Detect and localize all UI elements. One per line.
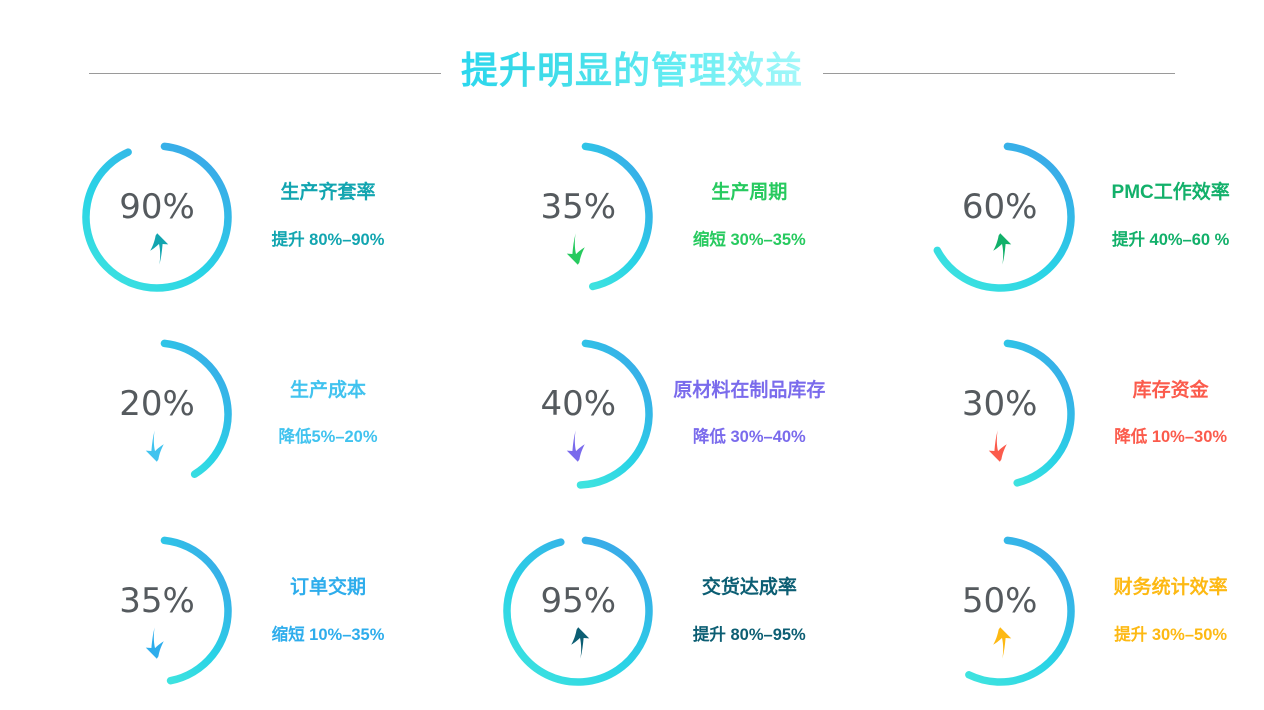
gauge-labels: PMC工作效率提升 40%–60 % [1091,182,1251,251]
arrow-down-icon [499,429,657,463]
arrow-up-icon [921,626,1079,660]
page-header: 提升明显的管理效益 [0,42,1264,104]
arrow-up-icon [921,232,1079,266]
gauge-card: 40%原材料在制品库存降低 30%–40% [421,315,842,512]
gauge-card: 35%生产周期缩短 30%–35% [421,118,842,315]
metric-title: 财务统计效率 [1114,577,1228,600]
arrow-down-icon [921,429,1079,463]
metric-change: 提升 80%–95% [693,626,806,646]
gauge-value: 90% [78,190,236,224]
metric-change: 降低 30%–40% [693,428,806,448]
gauge-ring: 90% [78,138,236,296]
gauge-value: 20% [78,387,236,421]
gauge-card: 50%财务统计效率提升 30%–50% [843,513,1264,710]
gauge-ring: 35% [499,138,657,296]
metric-title: 生产齐套率 [280,182,375,205]
gauge-value: 35% [78,584,236,618]
gauge-ring: 40% [499,335,657,493]
gauge-card: 95%交货达成率提升 80%–95% [421,513,842,710]
metric-title: 交货达成率 [702,577,797,600]
gauge-labels: 生产成本降低5%–20% [248,380,408,449]
gauge-grid: 90%生产齐套率提升 80%–90%35%生产周期缩短 30%–35%60%PM… [0,118,1264,710]
page-title: 提升明显的管理效益 [461,51,803,96]
gauge-ring: 95% [499,532,657,690]
arrow-down-icon [78,626,236,660]
gauge-value: 40% [499,387,657,421]
gauge-ring: 60% [921,138,1079,296]
metric-change: 降低 10%–30% [1114,428,1227,448]
metric-title: 订单交期 [290,577,366,600]
gauge-card: 35%订单交期缩短 10%–35% [0,513,421,710]
gauge-ring: 35% [78,532,236,690]
gauge-value: 35% [499,190,657,224]
gauge-value: 95% [499,584,657,618]
metric-title: 原材料在制品库存 [673,380,825,403]
metric-change: 提升 40%–60 % [1112,231,1229,251]
arrow-down-icon [499,232,657,266]
metric-title: PMC工作效率 [1112,182,1230,205]
gauge-ring: 50% [921,532,1079,690]
gauge-card: 60%PMC工作效率提升 40%–60 % [843,118,1264,315]
gauge-value: 50% [921,584,1079,618]
arrow-up-icon [78,232,236,266]
metric-change: 提升 30%–50% [1114,626,1227,646]
metric-change: 缩短 10%–35% [272,626,385,646]
gauge-card: 30%库存资金降低 10%–30% [843,315,1264,512]
gauge-value: 60% [921,190,1079,224]
metric-change: 降低5%–20% [278,428,377,448]
metric-title: 生产成本 [290,380,366,403]
gauge-labels: 库存资金降低 10%–30% [1091,380,1251,449]
gauge-ring: 30% [921,335,1079,493]
gauge-value: 30% [921,387,1079,421]
arrow-down-icon [78,429,236,463]
arrow-up-icon [499,626,657,660]
title-divider-right [823,73,1175,74]
metric-change: 提升 80%–90% [272,231,385,251]
metric-title: 库存资金 [1133,380,1209,403]
title-divider-left [89,73,441,74]
gauge-card: 90%生产齐套率提升 80%–90% [0,118,421,315]
gauge-labels: 财务统计效率提升 30%–50% [1091,577,1251,646]
gauge-ring: 20% [78,335,236,493]
gauge-labels: 原材料在制品库存降低 30%–40% [669,380,829,449]
gauge-labels: 生产齐套率提升 80%–90% [248,182,408,251]
gauge-card: 20%生产成本降低5%–20% [0,315,421,512]
gauge-labels: 生产周期缩短 30%–35% [669,182,829,251]
metric-change: 缩短 30%–35% [693,231,806,251]
gauge-labels: 交货达成率提升 80%–95% [669,577,829,646]
gauge-labels: 订单交期缩短 10%–35% [248,577,408,646]
metric-title: 生产周期 [711,182,787,205]
